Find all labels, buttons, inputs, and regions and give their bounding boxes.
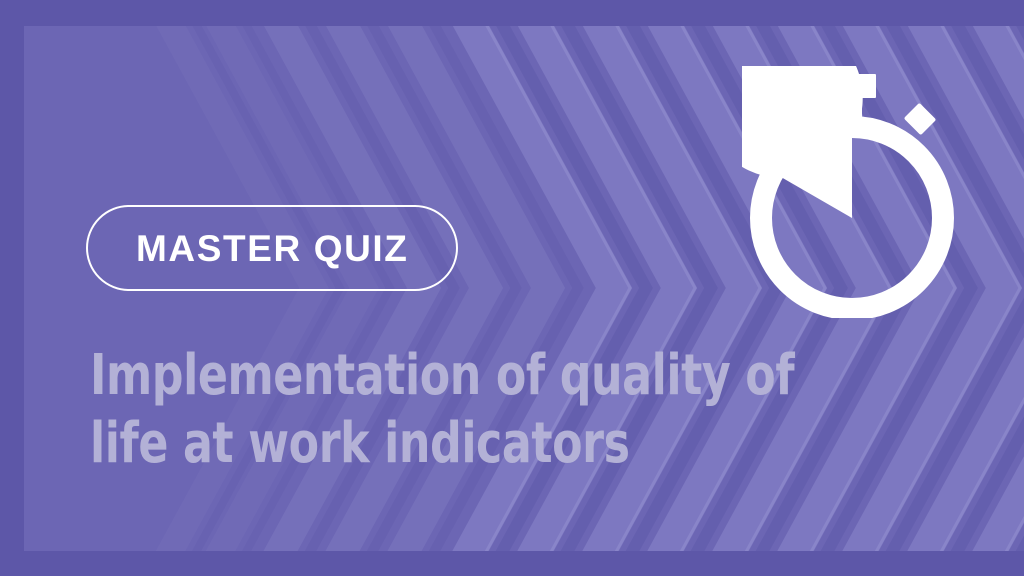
banner-panel: MASTER QUIZ Implementation of quality of…	[24, 26, 1024, 551]
master-quiz-badge[interactable]: MASTER QUIZ	[86, 205, 458, 291]
badge-label: MASTER QUIZ	[136, 230, 408, 267]
page-title: Implementation of quality of life at wor…	[90, 342, 794, 478]
stopwatch-icon	[742, 66, 962, 318]
page-title-line-2: life at work indicators	[90, 410, 794, 478]
quiz-banner: MASTER QUIZ Implementation of quality of…	[0, 0, 1024, 576]
page-title-line-1: Implementation of quality of	[90, 342, 794, 410]
